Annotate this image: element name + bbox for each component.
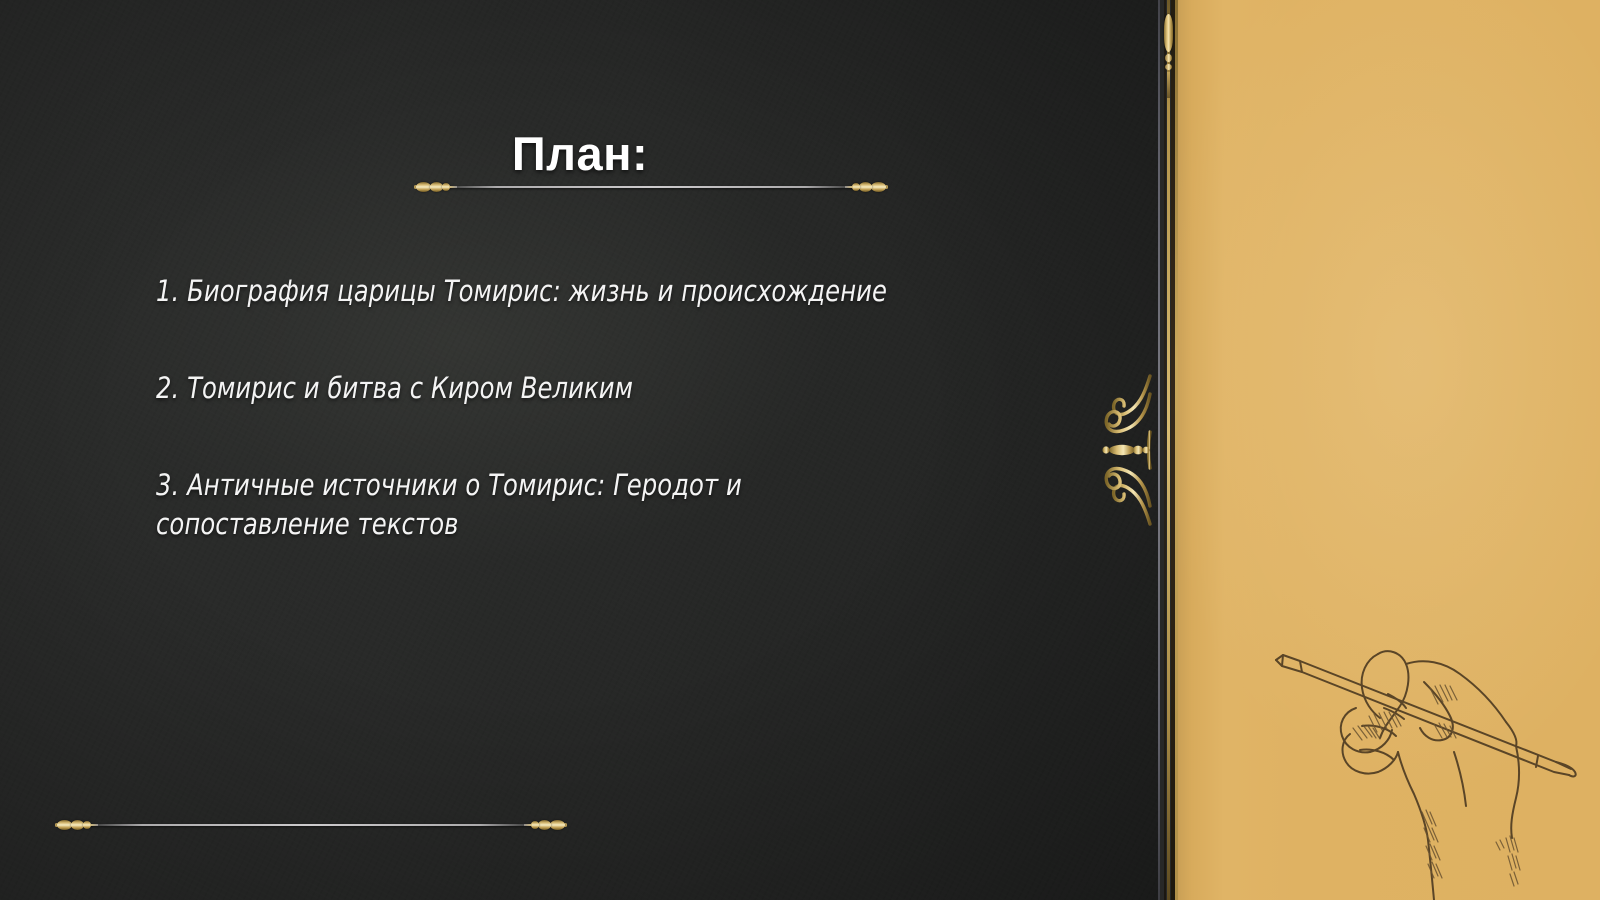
list-item: 3. Античные источники о Томирис: Геродот…: [156, 466, 881, 544]
divider-line: [1167, 0, 1170, 900]
gold-scroll-filigree-icon: [1098, 372, 1160, 528]
rule-ornament-left-icon: [55, 818, 97, 832]
finial-diamond: [1164, 14, 1173, 52]
rule-ornament-right-icon: [525, 818, 567, 832]
ornament-lobe: [531, 821, 539, 829]
hand-holding-pen-illustration: [1238, 612, 1600, 900]
ornament-lobe: [57, 820, 72, 830]
finial-bead: [1165, 64, 1172, 70]
ornament-lobe: [859, 182, 872, 192]
page-title: План:: [0, 126, 1160, 181]
ornament-stem: [90, 824, 98, 826]
list-item: 2. Томирис и битва с Киром Великим: [156, 369, 993, 408]
plan-list: 1. Биография царицы Томирис: жизнь и про…: [156, 272, 1056, 544]
ornament-lobe: [550, 820, 565, 830]
ornament-lobe: [538, 820, 551, 830]
bottom-ornamental-rule: [55, 818, 567, 832]
divider-line: [1175, 0, 1178, 900]
title-ornamental-rule: [414, 180, 888, 194]
rule-ornament-right-icon: [846, 180, 888, 194]
divider-line: [1164, 0, 1166, 900]
ornament-lobe: [871, 182, 886, 192]
finial-tail: [1167, 72, 1170, 98]
rule-bar: [448, 186, 854, 188]
ornament-stem: [449, 186, 457, 188]
finial-bead: [1165, 54, 1172, 62]
ornament-stem: [524, 824, 532, 826]
slide-canvas: План: 1. Биография царицы Томирис: жизнь…: [0, 0, 1600, 900]
rule-bar: [89, 824, 533, 826]
ornament-lobe: [852, 183, 860, 191]
rule-ornament-left-icon: [414, 180, 456, 194]
ornament-stem: [845, 186, 853, 188]
list-item: 1. Биография царицы Томирис: жизнь и про…: [156, 272, 993, 311]
ornament-lobe: [416, 182, 431, 192]
